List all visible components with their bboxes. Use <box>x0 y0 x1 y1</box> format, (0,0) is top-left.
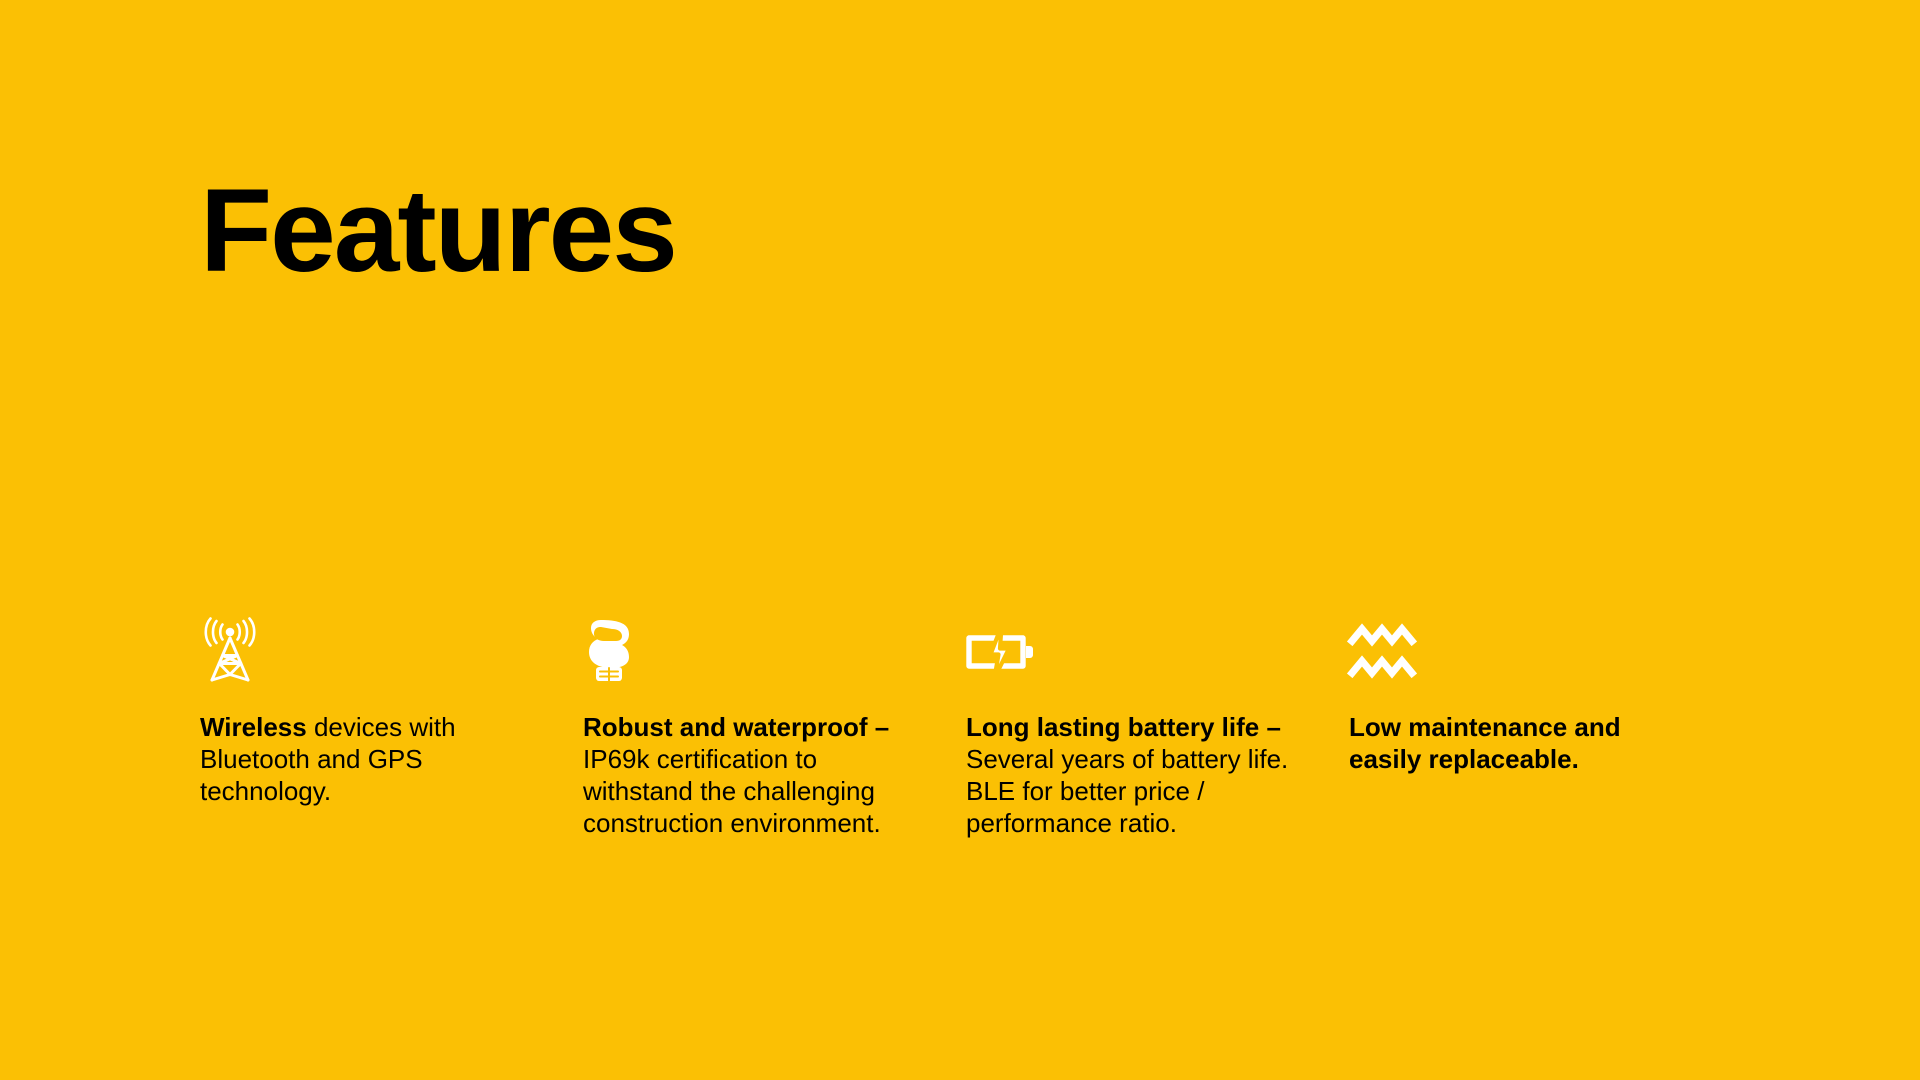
feature-description: Long lasting battery life – Several year… <box>966 711 1296 839</box>
features-row: Wireless devices with Bluetooth and GPS … <box>200 618 1760 839</box>
feature-column-maintenance: Low maintenance and easily replaceable. <box>1349 618 1732 775</box>
page-title: Features <box>200 172 676 290</box>
feature-rest: IP69k certification to withstand the cha… <box>583 744 881 838</box>
battery-charging-icon <box>966 626 1036 678</box>
feature-description: Robust and waterproof – IP69k certificat… <box>583 711 913 839</box>
feature-lead: Low maintenance and easily replaceable. <box>1349 712 1621 774</box>
feature-description: Low maintenance and easily replaceable. <box>1349 711 1679 775</box>
feature-lead: Robust and waterproof – <box>583 712 889 742</box>
radio-tower-icon <box>200 618 260 682</box>
feature-lead: Long lasting battery life – <box>966 712 1281 742</box>
slide-canvas: Features <box>0 0 1920 1080</box>
feature-column-wireless: Wireless devices with Bluetooth and GPS … <box>200 618 583 807</box>
boxing-glove-icon <box>585 618 633 682</box>
feature-rest: Several years of battery life. BLE for b… <box>966 744 1288 838</box>
feature-description: Wireless devices with Bluetooth and GPS … <box>200 711 530 807</box>
feature-lead: Wireless <box>200 712 307 742</box>
feature-column-battery: Long lasting battery life – Several year… <box>966 618 1349 839</box>
zigzag-waves-icon <box>1349 626 1415 676</box>
feature-column-robust: Robust and waterproof – IP69k certificat… <box>583 618 966 839</box>
